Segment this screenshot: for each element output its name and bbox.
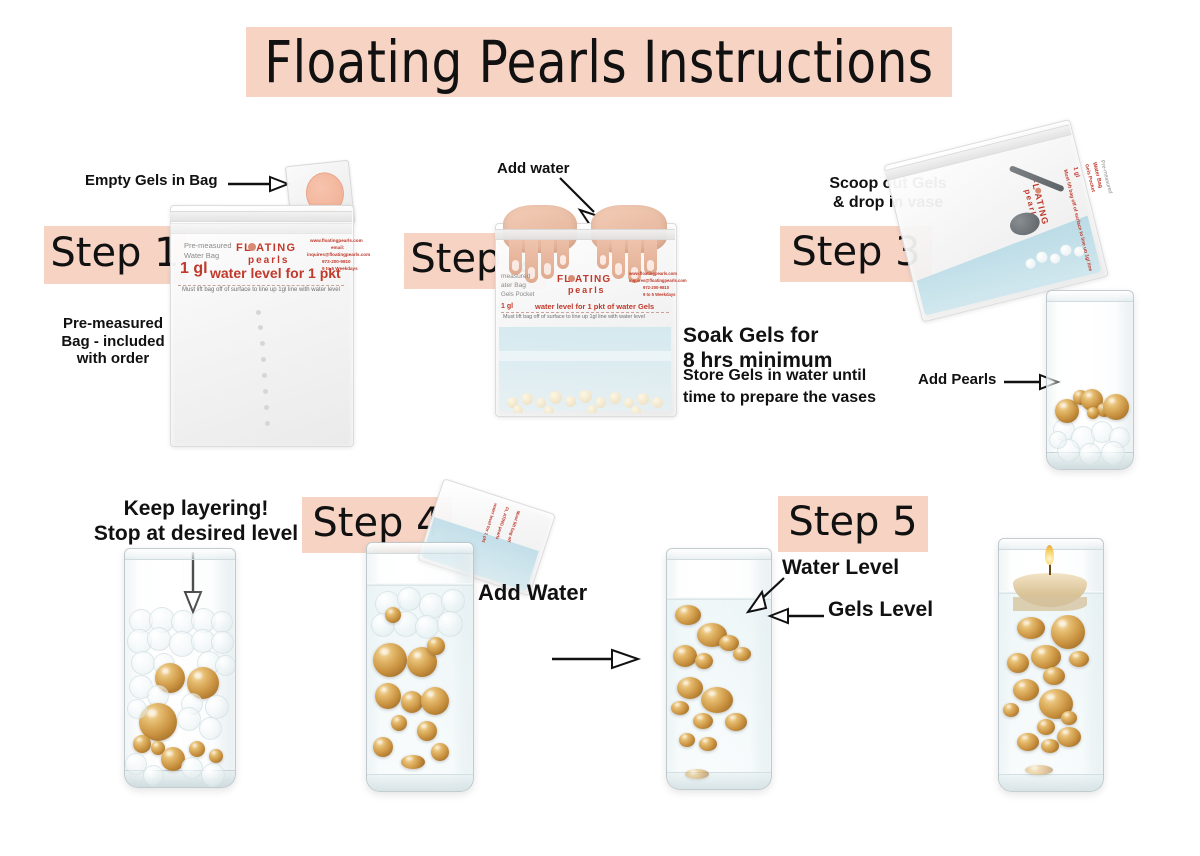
bag-waterbag-text: Water Bag: [184, 251, 219, 260]
bag-email: inquires@floatingpearls.com: [307, 252, 370, 257]
candle-flame: [1045, 545, 1054, 565]
step-4-vase-left: [124, 548, 236, 788]
bag-website: www.floatingpearls.com: [310, 238, 363, 243]
callout-pre-measured-bag: Pre-measured Bag - included with order: [48, 315, 178, 368]
page-title: Floating Pearls Instructions: [264, 28, 933, 96]
bag-premeasured-text: Pre-measured: [184, 241, 232, 250]
callout-store-gels: Store Gels in water until time to prepar…: [683, 365, 876, 408]
callout-add-pearls: Add Pearls: [918, 371, 996, 389]
step-1-badge: Step 1: [44, 226, 186, 284]
bag-fine-print: Must lift bag off of surface to line up …: [182, 287, 340, 293]
bag-brand-top: FL ATING: [236, 242, 297, 254]
step-4-vase-right: [366, 542, 474, 792]
callout-empty-gels-in-bag: Empty Gels in Bag: [85, 172, 218, 190]
step-1-bag-photo: Pre-measured Water Bag FL ATING pearls w…: [170, 205, 352, 445]
final-vase-with-candle: [998, 538, 1104, 792]
step-5-badge: Step 5: [778, 496, 928, 552]
arrow-step4-to-step5: [552, 648, 642, 670]
bag-brand-dot: [248, 243, 256, 251]
arrow-empty-gels-in-bag: [228, 176, 290, 192]
callout-water-level: Water Level: [782, 556, 899, 581]
step-3-vase: [1046, 290, 1134, 470]
arrow-gels-level: [770, 608, 826, 624]
bag-phone: 972-200-9810: [322, 259, 351, 264]
callout-gels-level: Gels Level: [828, 598, 933, 623]
bag-water-level: water level for 1 pkt: [210, 265, 341, 281]
bag-email-label: email:: [331, 245, 344, 250]
callout-keep-layering: Keep layering! Stop at desired level: [76, 497, 316, 547]
callout-add-water-4: Add Water: [478, 580, 587, 606]
callout-add-water: Add water: [497, 160, 570, 178]
bag-pearls: [499, 383, 671, 413]
bag-volume: 1 gl: [180, 260, 208, 278]
page-title-banner: Floating Pearls Instructions: [246, 27, 952, 97]
step-2-bag-photo: measured ater Bag Gels Pocket FL ATING p…: [495, 205, 675, 415]
